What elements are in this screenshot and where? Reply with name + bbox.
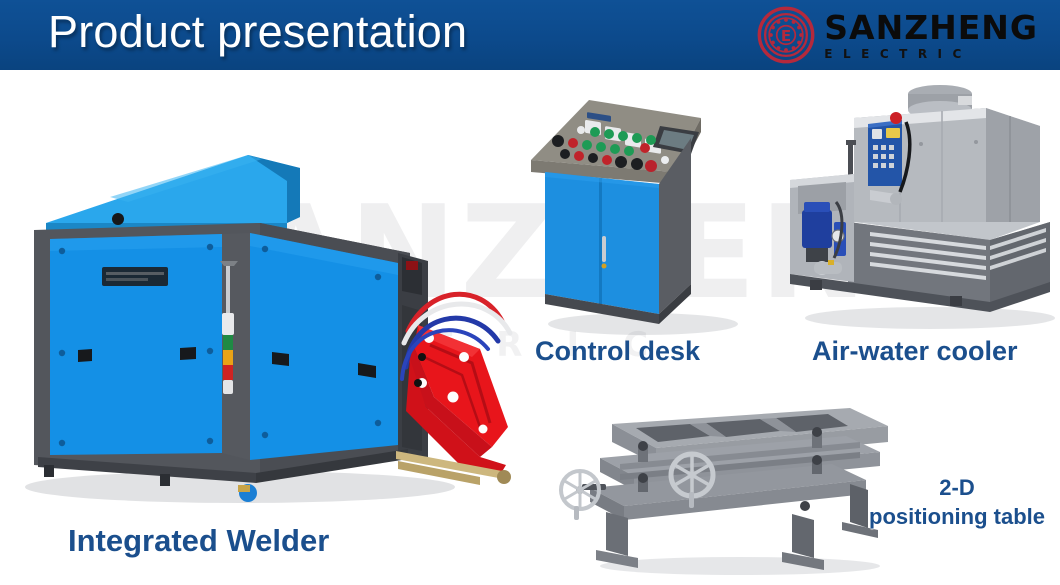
product-label-air-water-cooler: Air-water cooler xyxy=(812,336,1018,367)
positioning-table-label-line2: positioning table xyxy=(862,503,1052,532)
product-image-integrated-welder xyxy=(10,135,530,515)
welder-illustration xyxy=(10,135,530,515)
control-desk-illustration xyxy=(523,88,753,338)
brand-text: SANZHENG ELECTRIC xyxy=(824,11,1038,60)
positioning-table-illustration xyxy=(560,402,910,577)
header-bar: Product presentation E SANZHENG xyxy=(0,0,1060,70)
product-image-positioning-table xyxy=(560,402,910,577)
product-label-integrated-welder: Integrated Welder xyxy=(68,523,329,559)
slide-canvas: E SANZHENG ELECTRIC xyxy=(0,0,1060,585)
brand-logo: E SANZHENG ELECTRIC xyxy=(757,4,1038,66)
page-title: Product presentation xyxy=(48,6,467,58)
product-image-air-water-cooler xyxy=(790,82,1060,332)
product-label-control-desk: Control desk xyxy=(535,336,700,367)
svg-text:E: E xyxy=(781,27,791,45)
product-image-control-desk xyxy=(523,88,753,338)
product-label-positioning-table: 2-D positioning table xyxy=(862,474,1052,531)
brand-name: SANZHENG xyxy=(824,11,1038,44)
positioning-table-label-line1: 2-D xyxy=(939,475,974,500)
company-emblem-icon: E xyxy=(757,6,815,64)
cooler-illustration xyxy=(790,82,1060,332)
brand-subtitle: ELECTRIC xyxy=(824,48,1038,60)
